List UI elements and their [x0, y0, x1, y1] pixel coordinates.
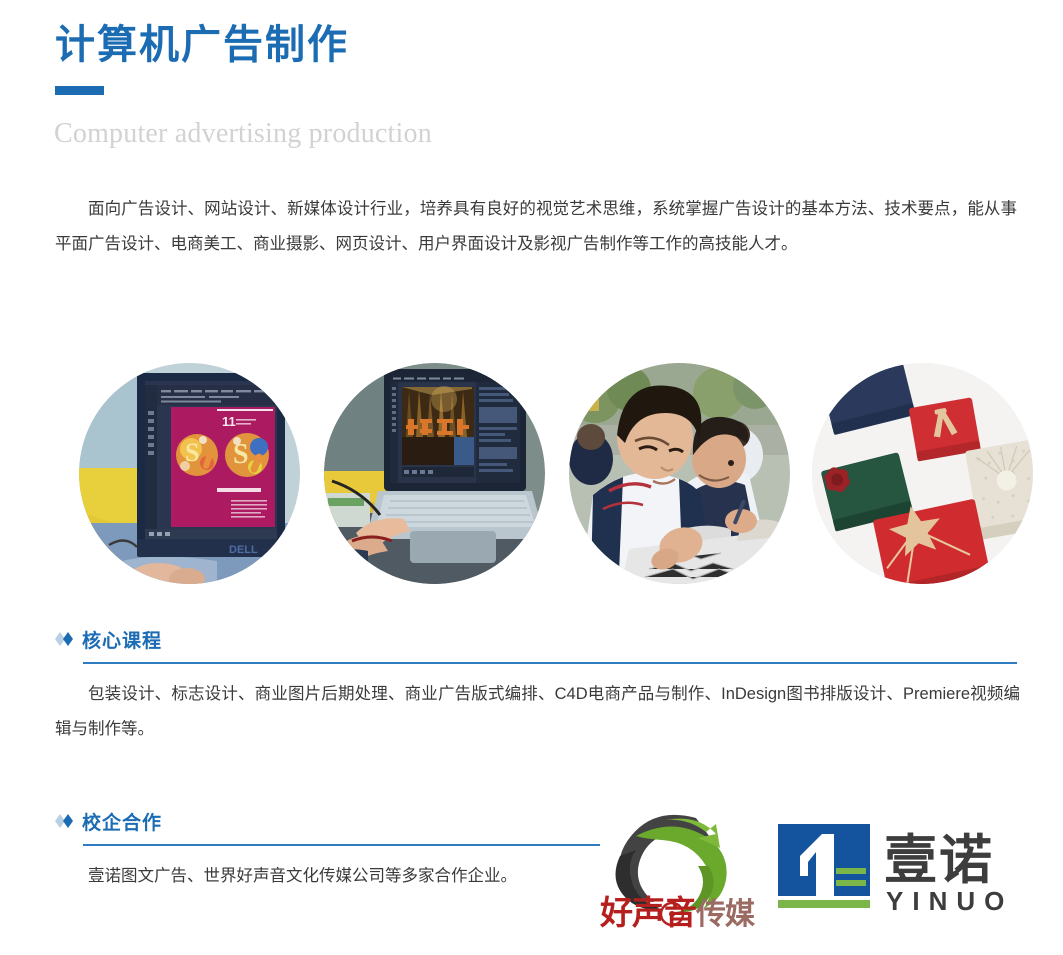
section-title: 核心课程: [82, 626, 162, 653]
page-subtitle: Computer advertising production: [54, 118, 432, 150]
photo-student-sketching: [569, 363, 790, 584]
section-core-courses: 核心课程 包装设计、标志设计、商业图片后期处理、商业广告版式编排、C4D电商产品…: [55, 626, 1020, 748]
partner-logos: 好声音 传媒 壹诺 YINUO: [600, 812, 1040, 937]
svg-text:好声音: 好声音: [600, 894, 696, 931]
svg-text:壹诺: 壹诺: [884, 831, 994, 890]
logo-haoshengyin-media: 好声音 传媒: [600, 812, 760, 934]
section-title: 校企合作: [82, 808, 162, 835]
section-header: 校企合作: [55, 808, 615, 834]
photo-laptop-photoshop: [324, 363, 545, 584]
logo-yinuo: 壹诺 YINUO: [778, 822, 1036, 922]
page-title: 计算机广告制作: [55, 22, 349, 68]
intro-paragraph: 面向广告设计、网站设计、新媒体设计行业，培养具有良好的视觉艺术思维，系统掌握广告…: [55, 192, 1017, 263]
photo-gallery: 11 S S: [0, 363, 1063, 585]
section-divider: [83, 844, 600, 846]
title-accent-bar: [55, 86, 104, 95]
section-school-enterprise-cooperation: 校企合作 壹诺图文广告、世界好声音文化传媒公司等多家合作企业。: [55, 808, 615, 894]
photo-gift-box-packaging: [812, 363, 1033, 584]
svg-text:传媒: 传媒: [695, 898, 756, 931]
section-body: 包装设计、标志设计、商业图片后期处理、商业广告版式编排、C4D电商产品与制作、I…: [55, 677, 1020, 748]
brochure-page: 计算机广告制作 Computer advertising production …: [0, 0, 1063, 955]
svg-text:YINUO: YINUO: [886, 886, 1013, 916]
section-divider: [83, 662, 1017, 664]
svg-text:11: 11: [222, 414, 236, 429]
photo-laptop-poster-design: 11 S S: [79, 363, 300, 584]
diamond-bullet-icon: [55, 632, 73, 646]
section-header: 核心课程: [55, 626, 1020, 652]
section-body: 壹诺图文广告、世界好声音文化传媒公司等多家合作企业。: [55, 859, 615, 894]
svg-text:DELL: DELL: [229, 544, 258, 556]
diamond-bullet-icon: [55, 814, 73, 828]
